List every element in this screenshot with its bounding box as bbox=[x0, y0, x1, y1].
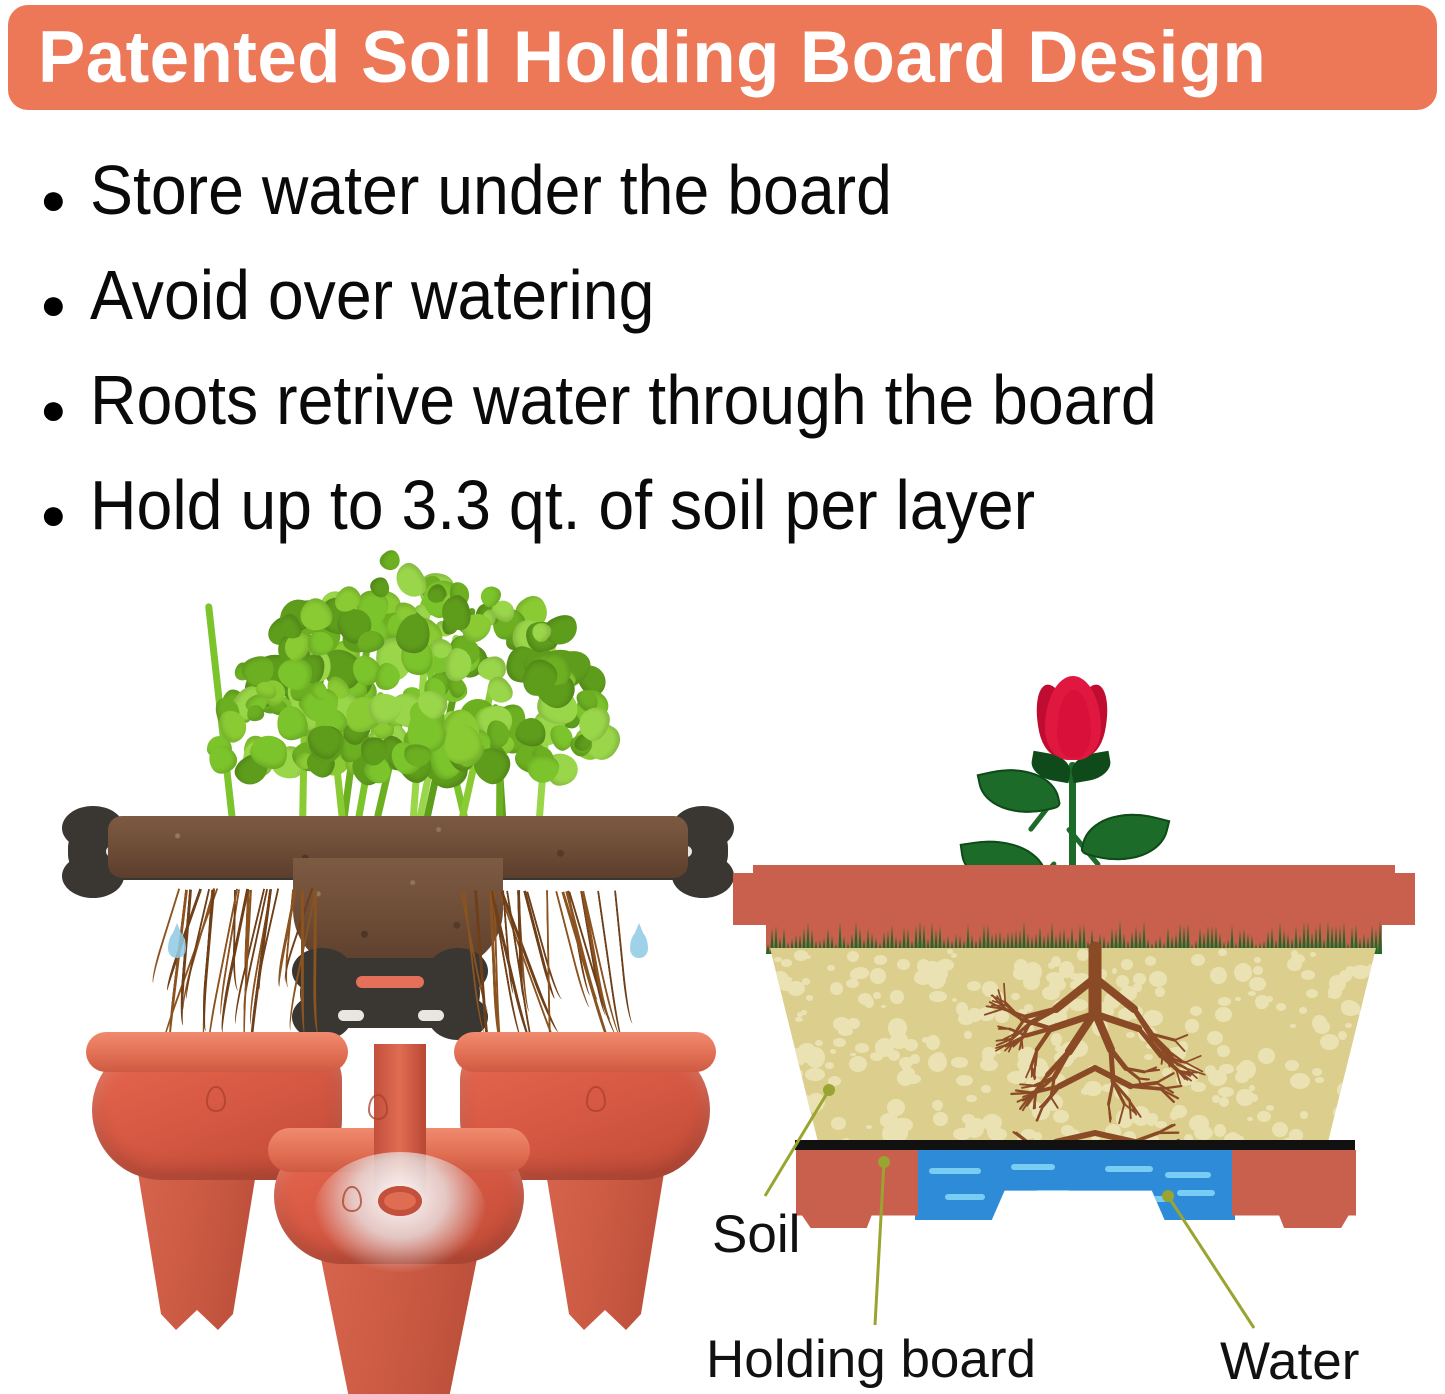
water-wave-mark bbox=[945, 1194, 985, 1200]
water-droplet-icon bbox=[168, 932, 186, 958]
feature-bullet-list: ● Store water under the board ● Avoid ov… bbox=[40, 150, 1420, 570]
pot-wall-right bbox=[1232, 1150, 1356, 1228]
list-item: ● Hold up to 3.3 qt. of soil per layer bbox=[40, 465, 1420, 570]
water-drop-glyph-icon bbox=[368, 1094, 388, 1120]
list-item: ● Avoid over watering bbox=[40, 255, 1420, 360]
holding-board-line bbox=[795, 1140, 1355, 1150]
bullet-label: Hold up to 3.3 qt. of soil per layer bbox=[90, 465, 1035, 545]
soil-holding-board-top bbox=[68, 800, 728, 905]
plant-foliage bbox=[190, 560, 610, 830]
bullet-dot-icon: ● bbox=[40, 178, 66, 222]
product-photo-stacking-planter bbox=[60, 560, 740, 1350]
bullet-label: Avoid over watering bbox=[90, 255, 654, 335]
water-drop-glyph-icon bbox=[342, 1186, 362, 1212]
infographic-page: Patented Soil Holding Board Design ● Sto… bbox=[0, 0, 1445, 1394]
water-wave-mark bbox=[1177, 1190, 1215, 1196]
water-drop-glyph-icon bbox=[586, 1086, 606, 1112]
label-soil: Soil bbox=[712, 1208, 800, 1261]
bullet-label: Store water under the board bbox=[90, 150, 892, 230]
bullet-dot-icon: ● bbox=[40, 283, 66, 327]
list-item: ● Roots retrive water through the board bbox=[40, 360, 1420, 465]
list-item: ● Store water under the board bbox=[40, 150, 1420, 255]
pot-wall-left bbox=[796, 1150, 918, 1228]
page-title: Patented Soil Holding Board Design bbox=[38, 21, 1266, 94]
water-wave-mark bbox=[1011, 1164, 1055, 1170]
label-water: Water bbox=[1220, 1335, 1359, 1388]
bullet-label: Roots retrive water through the board bbox=[90, 360, 1157, 440]
water-drop-glyph-icon bbox=[206, 1086, 226, 1112]
water-wave-mark bbox=[929, 1168, 981, 1174]
bullet-dot-icon: ● bbox=[40, 493, 66, 537]
pot-rim bbox=[753, 865, 1395, 925]
label-holding-board: Holding board bbox=[706, 1333, 1036, 1386]
water-wave-mark bbox=[1105, 1166, 1153, 1172]
stackable-planter-body bbox=[78, 990, 722, 1350]
water-droplet-icon bbox=[630, 932, 648, 958]
header-banner: Patented Soil Holding Board Design bbox=[8, 5, 1437, 110]
bullet-dot-icon: ● bbox=[40, 388, 66, 432]
cross-section-diagram bbox=[740, 660, 1430, 1220]
water-wave-mark bbox=[1165, 1172, 1211, 1178]
